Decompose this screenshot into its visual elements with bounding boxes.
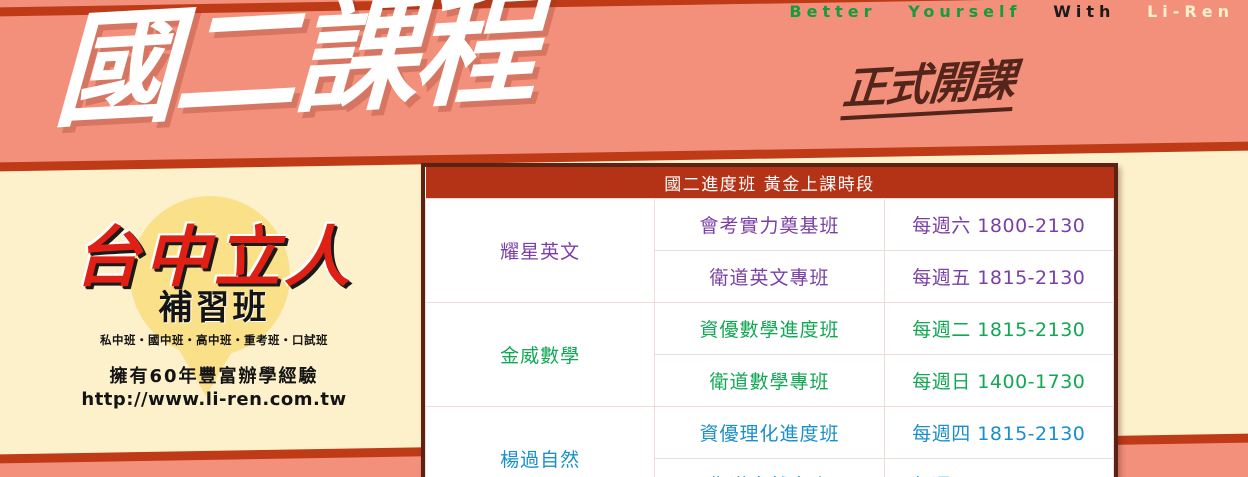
schedule-title: 國二進度班 黃金上課時段 xyxy=(426,167,1114,199)
time-cell: 每週五 1815-2130 xyxy=(884,251,1113,303)
logo-school-type: 補習班 xyxy=(34,290,394,326)
promo-banner: Better Yourself With Li-Ren 國二課程 正式開課 台中… xyxy=(0,0,1248,477)
course-cell: 衛道數學專班 xyxy=(655,355,884,407)
schedule-table-body: 耀星英文 會考實力奠基班 每週六 1800-2130 衛道英文專班 每週五 18… xyxy=(426,199,1114,477)
tagline-word-yourself: Yourself xyxy=(908,2,1021,21)
time-cell: 每週日 1400-1730 xyxy=(884,355,1113,407)
tagline-word-better: Better xyxy=(789,2,876,21)
tagline-word-with: With xyxy=(1053,2,1115,21)
course-cell: 衛道自然專班 xyxy=(655,459,884,477)
subject-cell: 金威數學 xyxy=(426,303,655,407)
course-cell: 會考實力奠基班 xyxy=(655,199,884,251)
table-row: 耀星英文 會考實力奠基班 每週六 1800-2130 xyxy=(426,199,1114,251)
banner-headline: 國二課程 xyxy=(52,0,536,138)
subject-cell: 楊過自然 xyxy=(426,407,655,477)
logo-school-name: 台中立人 xyxy=(34,218,394,296)
table-row: 金威數學 資優數學進度班 每週二 1815-2130 xyxy=(426,303,1114,355)
schedule-table-container: 國二進度班 黃金上課時段 耀星英文 會考實力奠基班 每週六 1800-2130 … xyxy=(421,163,1118,477)
course-cell: 資優理化進度班 xyxy=(655,407,884,459)
course-cell: 資優數學進度班 xyxy=(655,303,884,355)
time-cell: 每週日 0900-1230 xyxy=(884,459,1113,477)
schedule-table: 國二進度班 黃金上課時段 耀星英文 會考實力奠基班 每週六 1800-2130 … xyxy=(425,167,1114,477)
subject-cell: 耀星英文 xyxy=(426,199,655,303)
logo-class-list: 私中班・國中班・高中班・重考班・口試班 xyxy=(34,332,394,348)
course-cell: 衛道英文專班 xyxy=(655,251,884,303)
table-header-row: 國二進度班 黃金上課時段 xyxy=(426,167,1114,199)
logo-website-url[interactable]: http://www.li-ren.com.tw xyxy=(34,389,394,410)
time-cell: 每週二 1815-2130 xyxy=(884,303,1113,355)
time-cell: 每週四 1815-2130 xyxy=(884,407,1113,459)
school-logo: 台中立人 補習班 私中班・國中班・高中班・重考班・口試班 擁有60年豐富辦學經驗… xyxy=(34,196,394,418)
logo-experience-text: 擁有60年豐富辦學經驗 xyxy=(34,362,394,388)
banner-subheadline: 正式開課 xyxy=(840,57,1016,121)
brand-tagline: Better Yourself With Li-Ren xyxy=(789,2,1234,21)
table-row: 楊過自然 資優理化進度班 每週四 1815-2130 xyxy=(426,407,1114,459)
tagline-word-liren: Li-Ren xyxy=(1147,2,1234,21)
time-cell: 每週六 1800-2130 xyxy=(884,199,1113,251)
